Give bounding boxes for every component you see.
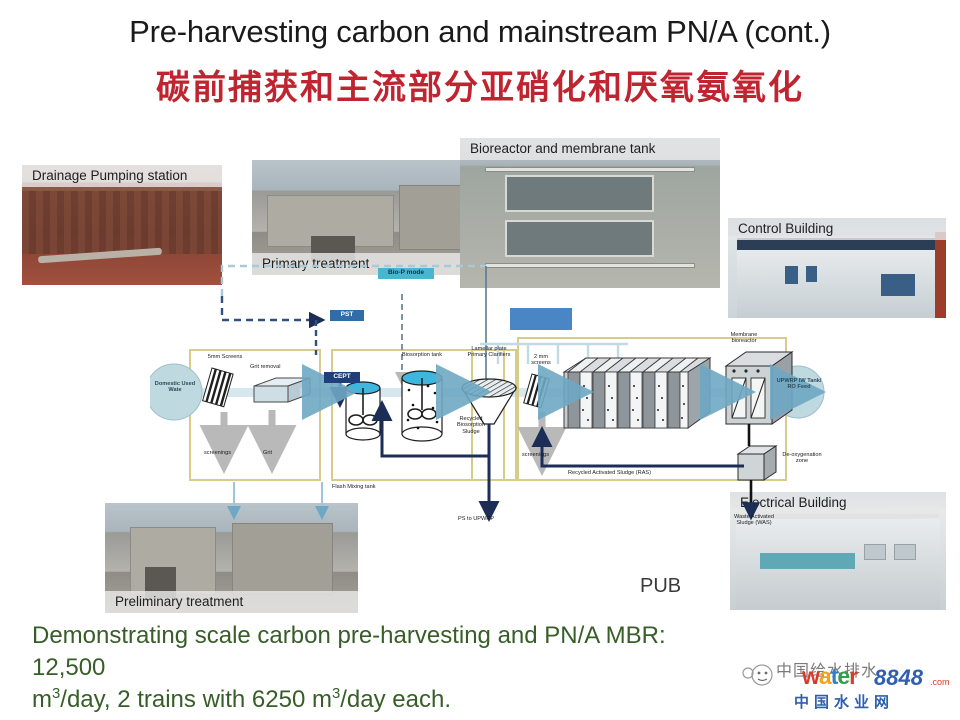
photo-texture-window-1	[864, 544, 886, 561]
label-screenings-2: screenings	[522, 452, 549, 458]
wm-letter-w: w	[802, 663, 819, 689]
diagram-canvas	[150, 260, 850, 620]
photo-texture-rail-1	[486, 168, 694, 171]
watermark-face-icon	[742, 661, 776, 689]
photo-texture-tank-1	[507, 177, 653, 210]
watermark-cn-bottom: 中国水业网	[794, 691, 894, 712]
page-subtitle-chinese: 碳前捕获和主流部分亚硝化和厌氧氨氧化	[0, 60, 960, 109]
photo-texture-edge	[935, 232, 946, 318]
caption-end: /day each.	[340, 686, 451, 713]
diagram-node-source-label: Domestic Used Wate	[154, 381, 196, 394]
process-flow-diagram: Domestic Used Wate UPWRP IW Tank/ RO Fee…	[150, 260, 850, 620]
page-title: Pre-harvesting carbon and mainstream PN/…	[0, 14, 960, 50]
photo-caption-drainage: Drainage Pumping station	[22, 165, 222, 187]
caption-unit-m-a: m	[32, 686, 52, 713]
caption-line-2: m3/day, 2 trains with 6250 m3/day each.	[32, 684, 732, 716]
photo-texture-tank-2	[507, 222, 653, 255]
label-grit: Grit	[263, 450, 272, 456]
label-lamellar-clarifiers: Lamellar plate Primary Clarifiers	[462, 346, 516, 359]
watermark: 中国给水排水 water 8848 .com 中国水业网	[742, 655, 957, 717]
tag-biop-mode: Bio-P mode	[378, 268, 434, 279]
caption-mid: /day, 2 trains with 6250 m	[60, 686, 332, 713]
label-recycled-biosorption-sludge: Recycled Biosorption Sludge	[448, 416, 494, 435]
label-2mm-screens: 2 mm screens	[524, 354, 558, 367]
photo-texture-sheetpiles	[22, 191, 222, 258]
caption-sup-2: 3	[332, 686, 340, 702]
org-label-pub: PUB	[640, 575, 681, 598]
wm-letter-r: r	[849, 663, 857, 689]
diagram-node-sink-label: UPWRP IW Tank/ RO Feed	[776, 378, 822, 391]
label-membrane-bioreactor: Membrane bioreactor	[718, 332, 770, 345]
watermark-wordmark: water	[802, 663, 857, 690]
tag-cept: CEPT	[324, 372, 360, 383]
label-screenings-1: screenings	[204, 450, 231, 456]
slide-caption: Demonstrating scale carbon pre-harvestin…	[32, 620, 732, 716]
label-was: Waste Activated Sludge (WAS)	[728, 514, 780, 527]
wm-letter-a: a	[819, 663, 831, 689]
label-flash-mixing-tank: Flash Mixing tank	[332, 484, 376, 490]
tag-pst: PST	[330, 310, 364, 321]
label-ps-to-upwrp: PS to UPWRP	[458, 516, 494, 522]
wm-letter-e: e	[837, 663, 849, 689]
watermark-tld: .com	[930, 677, 950, 687]
label-5mm-screens: 5mm Screens	[202, 354, 248, 360]
watermark-number: 8848	[874, 665, 923, 691]
slide-root: Pre-harvesting carbon and mainstream PN/…	[0, 0, 960, 720]
label-deoxygenation-zone: De-oxygenation zone	[778, 452, 826, 465]
photo-caption-bioreactor: Bioreactor and membrane tank	[460, 138, 720, 160]
label-ras: Recycled Activated Sludge (RAS)	[568, 470, 651, 476]
label-grit-removal: Grit removal	[250, 364, 280, 370]
photo-texture-window-3	[881, 274, 916, 296]
photo-texture-window-2	[894, 544, 916, 561]
photo-caption-control-building: Control Building	[728, 218, 946, 240]
label-biosorption-tank: Biosorption tank	[399, 352, 445, 358]
caption-line-1: Demonstrating scale carbon pre-harvestin…	[32, 620, 732, 684]
